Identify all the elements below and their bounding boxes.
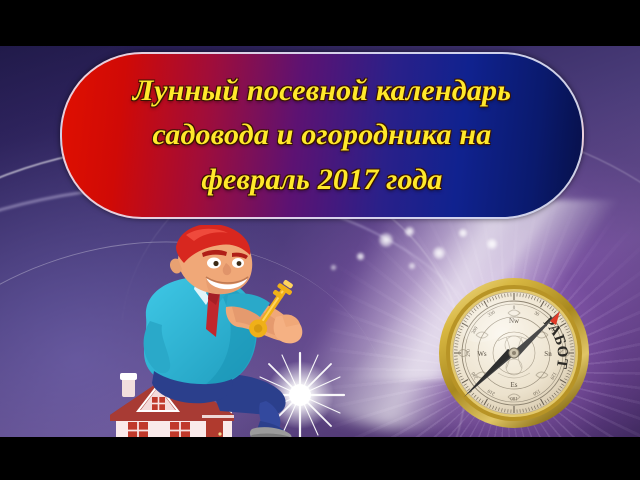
bokeh-light bbox=[432, 246, 446, 260]
title-banner: Лунный посевной календарь садовода и ого… bbox=[60, 52, 584, 219]
title-line-3: февраль 2017 года bbox=[201, 158, 442, 202]
title-line-1: Лунный посевной календарь bbox=[133, 69, 511, 113]
bokeh-light bbox=[404, 226, 415, 237]
illustration-scene bbox=[110, 225, 400, 450]
compass-icon: 0306090120150180210240270300330 bbox=[438, 277, 590, 429]
letterbox-bar-bottom bbox=[0, 437, 640, 480]
compass-cardinal-e: Sn bbox=[544, 350, 552, 358]
character-and-house-illustration bbox=[110, 225, 400, 450]
compass-widget: 0306090120150180210240270300330 bbox=[438, 277, 590, 429]
thumbnail-canvas: 0306090120150180210240270300330 bbox=[0, 0, 640, 480]
compass-cardinal-s: Es bbox=[511, 381, 518, 389]
title-line-2: садовода и огородника на bbox=[153, 113, 492, 157]
letterbox-bar-top bbox=[0, 0, 640, 46]
bokeh-light bbox=[458, 228, 468, 238]
bokeh-light bbox=[486, 238, 498, 250]
bokeh-light bbox=[408, 262, 416, 270]
compass-cardinal-w: Ws bbox=[477, 350, 487, 358]
